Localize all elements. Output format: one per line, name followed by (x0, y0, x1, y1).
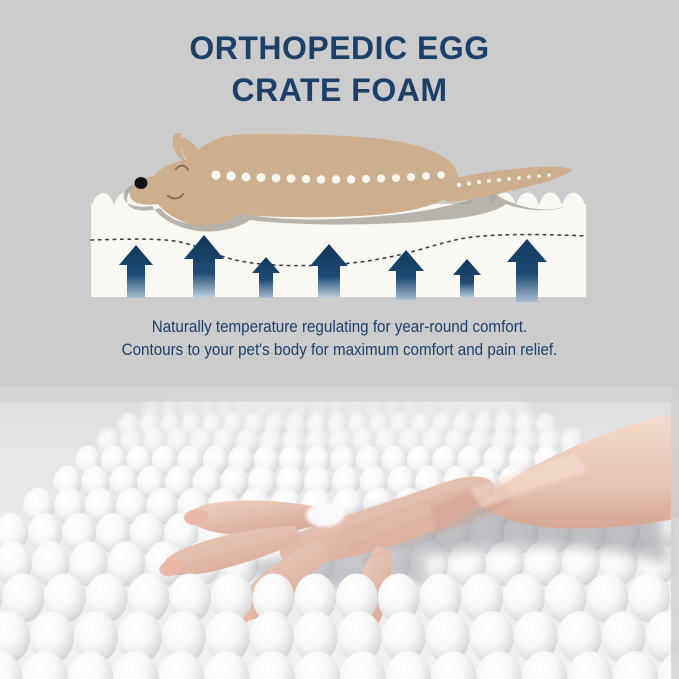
product-infographic: ORTHOPEDIC EGG CRATE FOAM (0, 0, 679, 679)
blurb-line-1: Naturally temperature regulating for yea… (27, 316, 652, 339)
page-title: ORTHOPEDIC EGG CRATE FOAM (0, 28, 679, 111)
foam-photo-render (0, 386, 679, 679)
headline-line-2: CRATE FOAM (0, 70, 679, 112)
foam-bump-between-fingers (306, 503, 344, 527)
headline-line-1: ORTHOPEDIC EGG (0, 28, 679, 70)
hand-pressing-egg-crate-foam-photo (0, 386, 679, 679)
feature-description: Naturally temperature regulating for yea… (27, 316, 652, 363)
photo-right-edge (671, 386, 679, 679)
dog-on-foam-mattress-diagram (0, 120, 679, 310)
blurb-line-2: Contours to your pet's body for maximum … (27, 339, 652, 362)
photo-top-blend (0, 386, 679, 402)
illustration-panel: ORTHOPEDIC EGG CRATE FOAM (0, 0, 679, 386)
dog-nose (135, 177, 148, 189)
